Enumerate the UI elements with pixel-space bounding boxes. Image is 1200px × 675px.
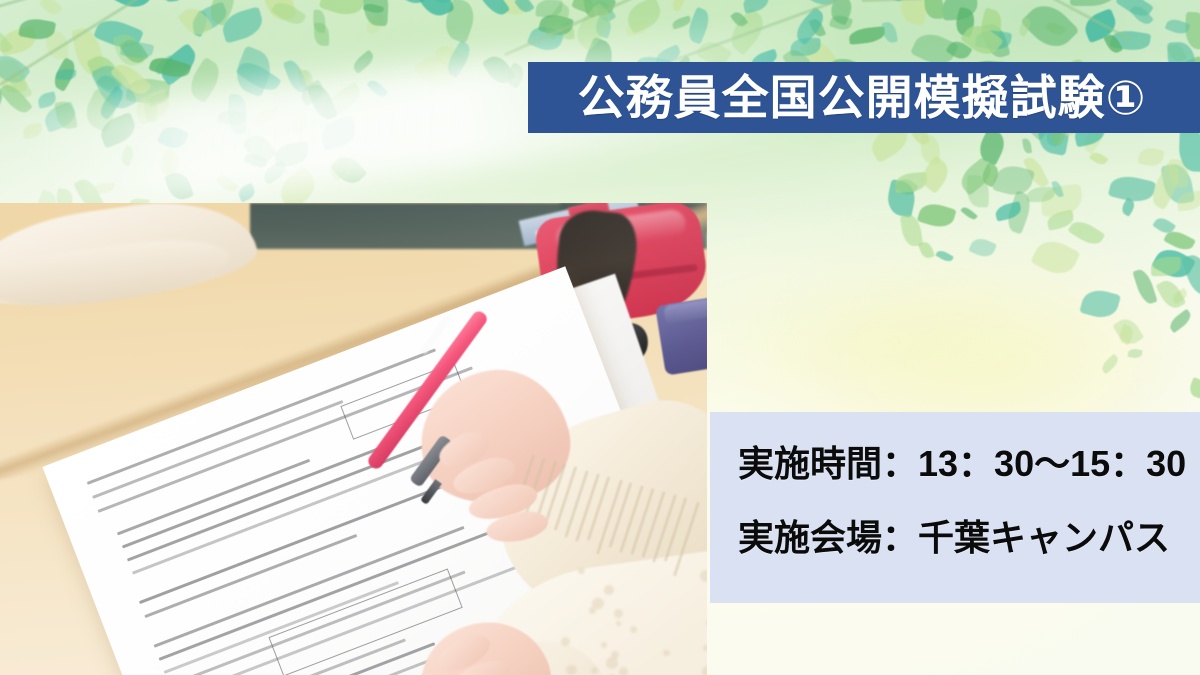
- leaf-icon: [350, 49, 377, 74]
- paper-text-line: [122, 441, 396, 548]
- leaf-icon: [1079, 286, 1121, 322]
- exam-time-line: 実施時間：13：30～15：30: [738, 446, 1200, 482]
- paper-text-line: [117, 459, 310, 535]
- leaf-icon: [669, 0, 690, 12]
- leaf-icon: [917, 155, 954, 194]
- leaf-icon: [154, 0, 178, 3]
- leaf-icon: [314, 23, 329, 46]
- leaf-icon: [961, 206, 978, 222]
- paper-text-line: [132, 450, 449, 574]
- knit-texture-dot: [566, 665, 577, 675]
- paper-text-line: [144, 534, 357, 618]
- leaf-icon: [38, 0, 62, 19]
- leaf-icon: [1070, 0, 1118, 6]
- leaf-icon: [1127, 348, 1143, 359]
- leaf-icon: [271, 0, 308, 29]
- exam-venue-line: 実施会場：千葉キャンパス: [738, 520, 1200, 556]
- leaf-icon: [1022, 138, 1032, 154]
- poster-canvas: 公務員全国公開模擬試験① 実施時間：13：30～15：30 実施会場：千葉キャン…: [0, 0, 1200, 675]
- leaf-icon: [319, 0, 367, 20]
- leaf-icon: [924, 0, 943, 18]
- leaf-icon: [362, 0, 389, 26]
- knit-texture-dot: [578, 568, 584, 574]
- leaf-icon: [881, 21, 898, 44]
- leaf-icon: [1108, 173, 1156, 206]
- exam-info-panel: 実施時間：13：30～15：30 実施会場：千葉キャンパス: [710, 412, 1200, 603]
- knit-texture-dot: [663, 650, 670, 657]
- title-banner: 公務員全国公開模擬試験①: [528, 62, 1200, 133]
- leaf-icon: [1138, 146, 1165, 168]
- leaf-icon: [916, 199, 956, 231]
- page-title: 公務員全国公開模擬試験①: [578, 74, 1147, 121]
- leaf-icon: [935, 248, 954, 264]
- study-photo: [0, 203, 707, 675]
- knit-texture-dot: [703, 645, 707, 651]
- leaf-icon: [1156, 277, 1186, 312]
- leaf-icon: [1099, 354, 1120, 375]
- knit-texture-dot: [619, 667, 628, 675]
- knit-texture-dot: [591, 667, 598, 674]
- leaf-icon: [473, 0, 510, 20]
- leaf-icon: [56, 68, 77, 81]
- leaf-icon: [1166, 309, 1193, 334]
- leaf-icon: [1188, 377, 1200, 399]
- leaf-icon: [1030, 234, 1080, 280]
- leaf-icon: [829, 13, 854, 33]
- leaf-icon: [848, 27, 885, 46]
- knit-texture-dot: [700, 570, 707, 582]
- leaf-icon: [968, 235, 997, 260]
- knit-texture-dot: [589, 607, 596, 614]
- leaf-icon: [1068, 217, 1106, 250]
